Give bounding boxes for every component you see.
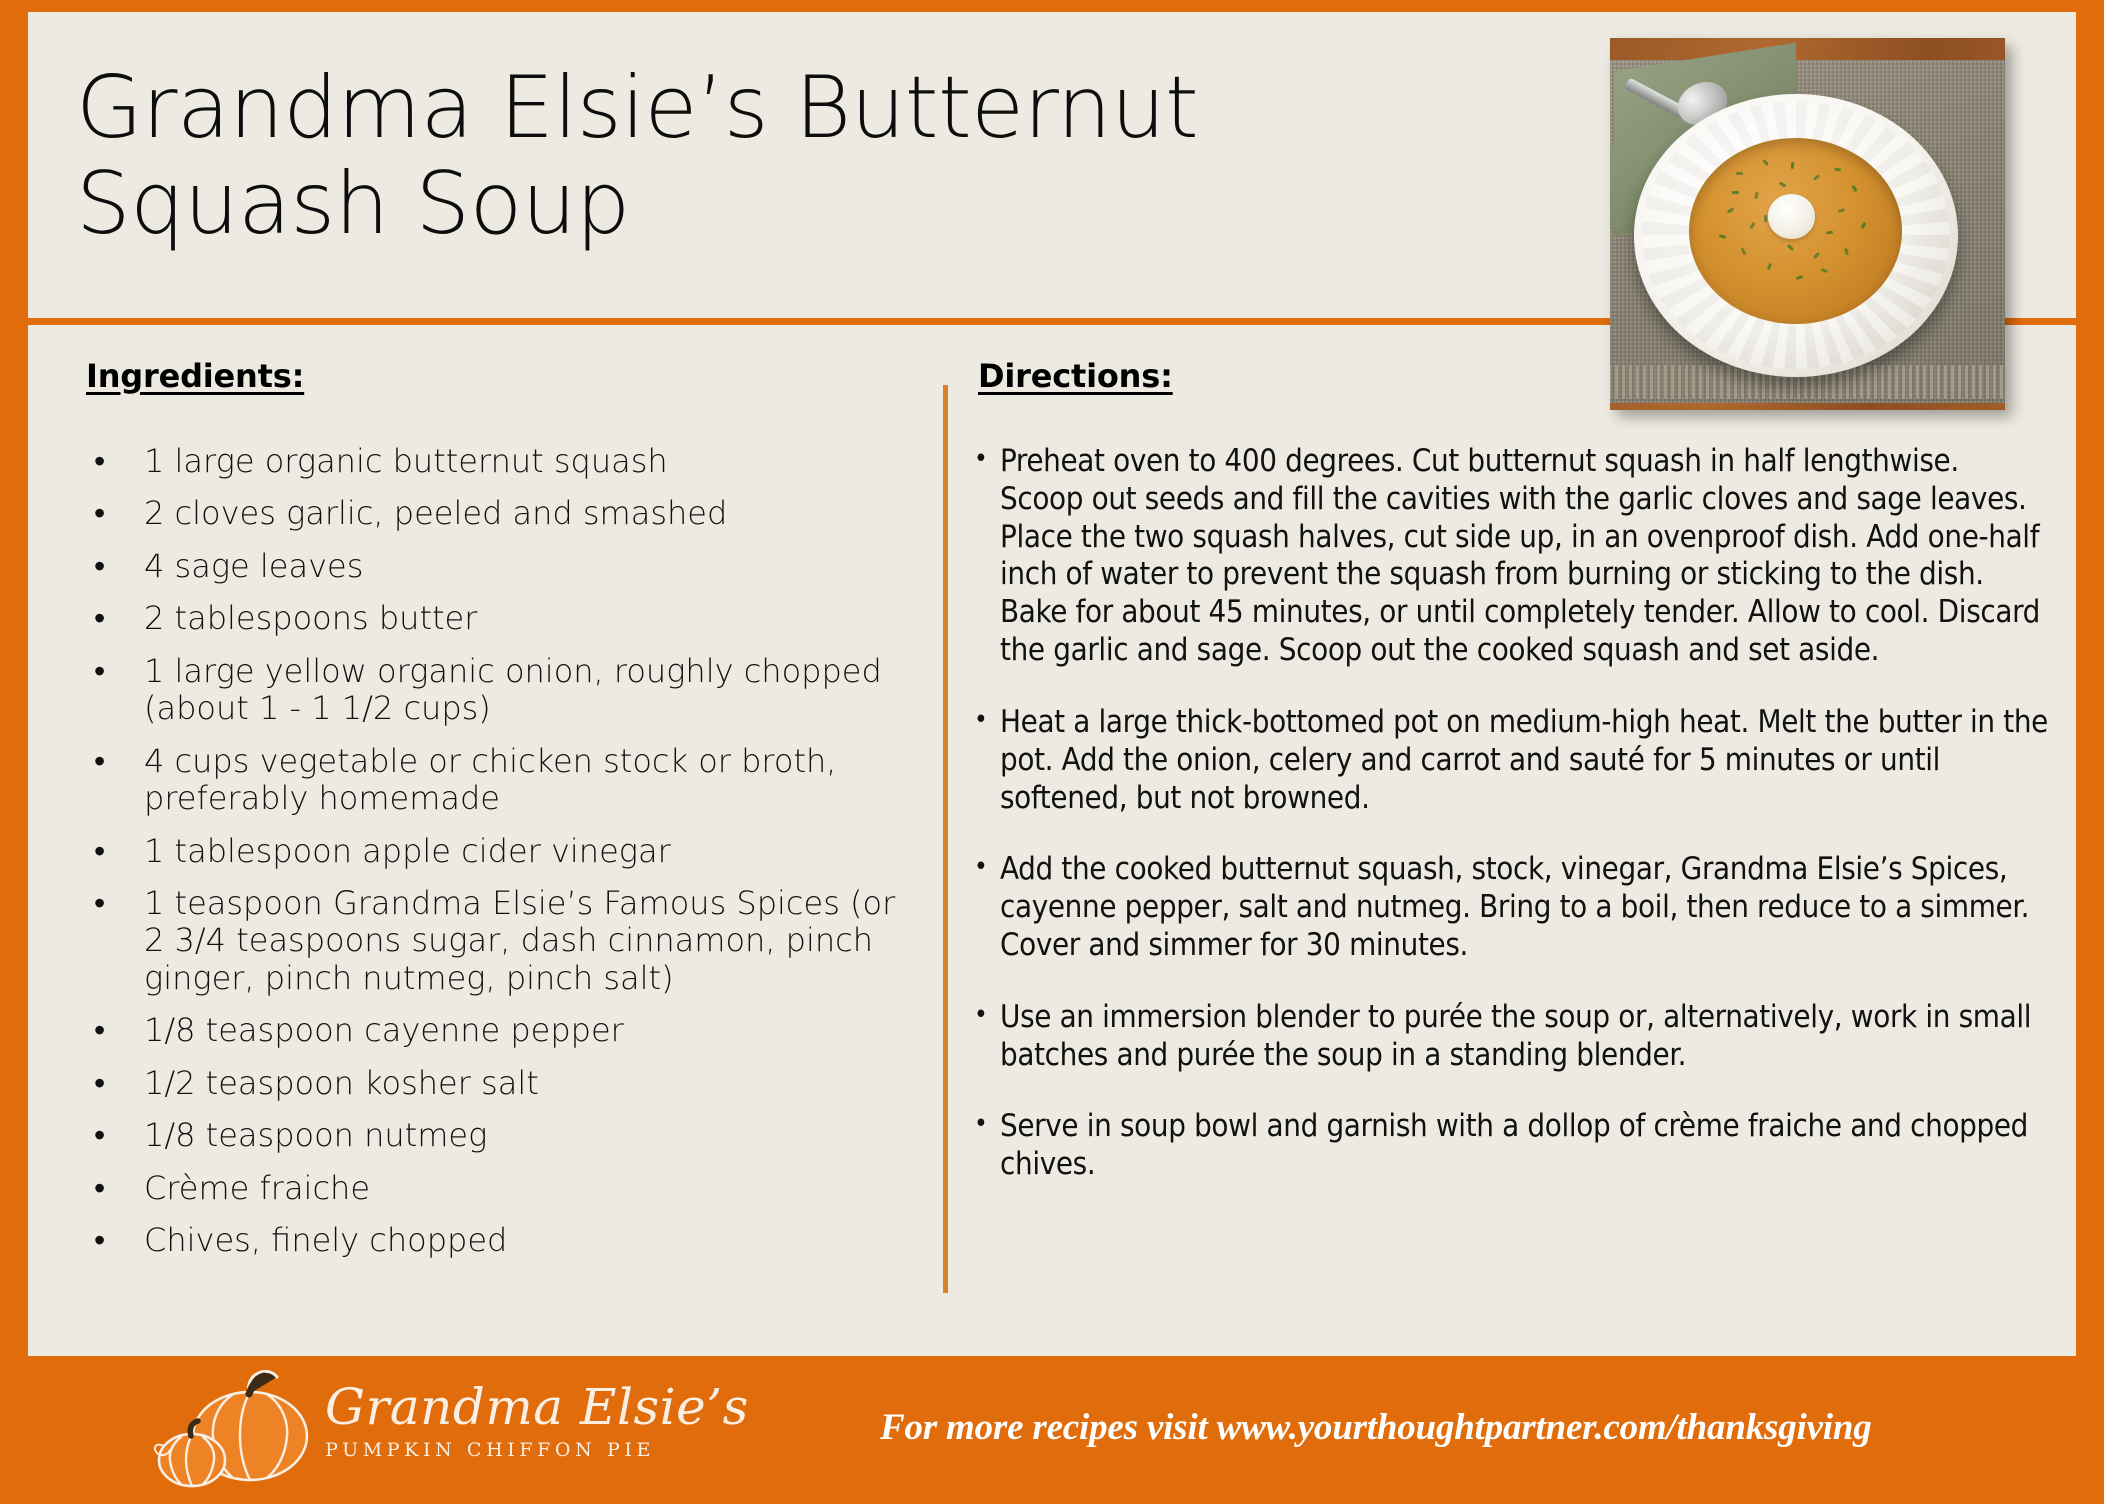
photo-chive-fleck bbox=[1719, 234, 1727, 239]
logo-brand-name: Grandma Elsie’s bbox=[325, 1382, 655, 1432]
column-divider bbox=[943, 385, 948, 1293]
list-bullet-icon: • bbox=[94, 443, 105, 480]
direction-step: •Use an immersion blender to purée the s… bbox=[958, 999, 2048, 1075]
recipe-card: Grandma Elsie’s Butternut Squash Soup In… bbox=[0, 0, 2104, 1504]
brand-logo: Grandma Elsie’s PUMPKIN CHIFFON PIE bbox=[150, 1368, 650, 1492]
direction-step-text: Serve in soup bowl and garnish with a do… bbox=[1000, 1108, 2028, 1182]
list-bullet-icon: • bbox=[94, 653, 105, 690]
direction-step: •Preheat oven to 400 degrees. Cut butter… bbox=[958, 443, 2048, 670]
ingredient-item: •2 tablespoons butter bbox=[76, 600, 906, 637]
photo-chive-fleck bbox=[1813, 174, 1820, 181]
logo-tagline: PUMPKIN CHIFFON PIE bbox=[325, 1439, 655, 1461]
photo-chive-fleck bbox=[1763, 214, 1766, 221]
ingredient-item: •Chives, finely chopped bbox=[76, 1222, 906, 1259]
photo-chive-fleck bbox=[1851, 185, 1857, 192]
page-title: Grandma Elsie’s Butternut Squash Soup bbox=[76, 60, 1376, 253]
ingredient-item: •1/2 teaspoon kosher salt bbox=[76, 1065, 906, 1102]
direction-step-text: Use an immersion blender to purée the so… bbox=[1000, 999, 2031, 1073]
photo-chive-fleck bbox=[1727, 208, 1735, 214]
ingredient-item-text: 1/8 teaspoon cayenne pepper bbox=[144, 1011, 624, 1049]
photo-chive-fleck bbox=[1844, 248, 1849, 256]
list-bullet-icon: • bbox=[94, 548, 105, 585]
photo-chive-fleck bbox=[1749, 222, 1756, 229]
card-footer: Grandma Elsie’s PUMPKIN CHIFFON PIE For … bbox=[0, 1356, 2104, 1504]
ingredient-item: •1/8 teaspoon nutmeg bbox=[76, 1117, 906, 1154]
direction-step: •Heat a large thick-bottomed pot on medi… bbox=[958, 704, 2048, 817]
direction-step-text: Preheat oven to 400 degrees. Cut buttern… bbox=[1000, 443, 2040, 668]
ingredient-item-text: 2 tablespoons butter bbox=[144, 599, 477, 637]
ingredient-item: •1 large organic butternut squash bbox=[76, 443, 906, 480]
card-body: Ingredients: •1 large organic butternut … bbox=[28, 357, 2076, 1337]
photo-chive-fleck bbox=[1821, 267, 1829, 273]
direction-step-text: Heat a large thick-bottomed pot on mediu… bbox=[1000, 704, 2048, 816]
dish-photo bbox=[1610, 38, 2005, 410]
ingredients-list: •1 large organic butternut squash•2 clov… bbox=[76, 443, 906, 1259]
ingredient-item: •4 cups vegetable or chicken stock or br… bbox=[76, 743, 906, 818]
list-bullet-icon: • bbox=[94, 743, 105, 780]
direction-step-text: Add the cooked butternut squash, stock, … bbox=[1000, 851, 2029, 963]
ingredient-item-text: 1 tablespoon apple cider vinegar bbox=[144, 832, 671, 870]
ingredient-item-text: 1 teaspoon Grandma Elsie’s Famous Spices… bbox=[144, 884, 895, 997]
photo-chive-fleck bbox=[1741, 248, 1747, 256]
footer-url-text: For more recipes visit www.yourthoughtpa… bbox=[880, 1406, 1980, 1449]
ingredient-item-text: 1/2 teaspoon kosher salt bbox=[144, 1064, 539, 1102]
list-bullet-icon: • bbox=[94, 1222, 105, 1259]
photo-chive-fleck bbox=[1754, 192, 1758, 199]
ingredient-item: •1 large yellow organic onion, roughly c… bbox=[76, 653, 906, 728]
logo-text: Grandma Elsie’s PUMPKIN CHIFFON PIE bbox=[325, 1382, 655, 1461]
list-bullet-icon: • bbox=[974, 703, 987, 738]
ingredients-column: Ingredients: •1 large organic butternut … bbox=[76, 357, 906, 1274]
list-bullet-icon: • bbox=[974, 1107, 987, 1142]
list-bullet-icon: • bbox=[94, 600, 105, 637]
list-bullet-icon: • bbox=[94, 1117, 105, 1154]
ingredient-item-text: 2 cloves garlic, peeled and smashed bbox=[144, 494, 727, 532]
ingredient-item: •1/8 teaspoon cayenne pepper bbox=[76, 1012, 906, 1049]
list-bullet-icon: • bbox=[94, 1170, 105, 1207]
ingredient-item-text: 1/8 teaspoon nutmeg bbox=[144, 1116, 487, 1154]
photo-chive-fleck bbox=[1795, 275, 1803, 280]
list-bullet-icon: • bbox=[94, 495, 105, 532]
photo-chive-fleck bbox=[1860, 222, 1866, 230]
list-bullet-icon: • bbox=[94, 833, 105, 870]
list-bullet-icon: • bbox=[94, 1012, 105, 1049]
list-bullet-icon: • bbox=[974, 850, 987, 885]
list-bullet-icon: • bbox=[94, 1065, 105, 1102]
ingredient-item-text: Crème fraiche bbox=[144, 1169, 370, 1207]
photo-chive-fleck bbox=[1787, 244, 1794, 251]
ingredient-item-text: 1 large yellow organic onion, roughly ch… bbox=[144, 652, 882, 727]
ingredient-item-text: 4 sage leaves bbox=[144, 547, 363, 585]
photo-chive-fleck bbox=[1834, 168, 1841, 172]
ingredient-item: •4 sage leaves bbox=[76, 548, 906, 585]
photo-chive-fleck bbox=[1791, 162, 1794, 169]
ingredient-item-text: 1 large organic butternut squash bbox=[144, 442, 668, 480]
photo-chive-fleck bbox=[1736, 172, 1743, 175]
photo-chive-fleck bbox=[1813, 252, 1820, 259]
ingredient-item-text: Chives, finely chopped bbox=[144, 1221, 507, 1259]
photo-chive-fleck bbox=[1778, 181, 1786, 187]
ingredient-item: •2 cloves garlic, peeled and smashed bbox=[76, 495, 906, 532]
photo-chive-fleck bbox=[1838, 208, 1846, 213]
directions-column: Directions: •Preheat oven to 400 degrees… bbox=[958, 357, 2048, 1218]
ingredient-item-text: 4 cups vegetable or chicken stock or bro… bbox=[144, 742, 836, 817]
photo-chive-fleck bbox=[1732, 190, 1739, 193]
photo-chive-fleck bbox=[1762, 159, 1769, 166]
ingredients-heading: Ingredients: bbox=[86, 357, 906, 395]
list-bullet-icon: • bbox=[94, 885, 105, 922]
directions-list: •Preheat oven to 400 degrees. Cut butter… bbox=[958, 443, 2048, 1184]
ingredient-item: •Crème fraiche bbox=[76, 1170, 906, 1207]
photo-chive-fleck bbox=[1767, 263, 1772, 271]
list-bullet-icon: • bbox=[974, 998, 987, 1033]
photo-creme-fraiche-dollop bbox=[1768, 194, 1815, 239]
photo-chive-fleck bbox=[1825, 231, 1832, 235]
list-bullet-icon: • bbox=[974, 442, 987, 477]
ingredient-item: •1 teaspoon Grandma Elsie’s Famous Spice… bbox=[76, 885, 906, 997]
direction-step: •Add the cooked butternut squash, stock,… bbox=[958, 851, 2048, 964]
direction-step: •Serve in soup bowl and garnish with a d… bbox=[958, 1108, 2048, 1184]
ingredient-item: •1 tablespoon apple cider vinegar bbox=[76, 833, 906, 870]
